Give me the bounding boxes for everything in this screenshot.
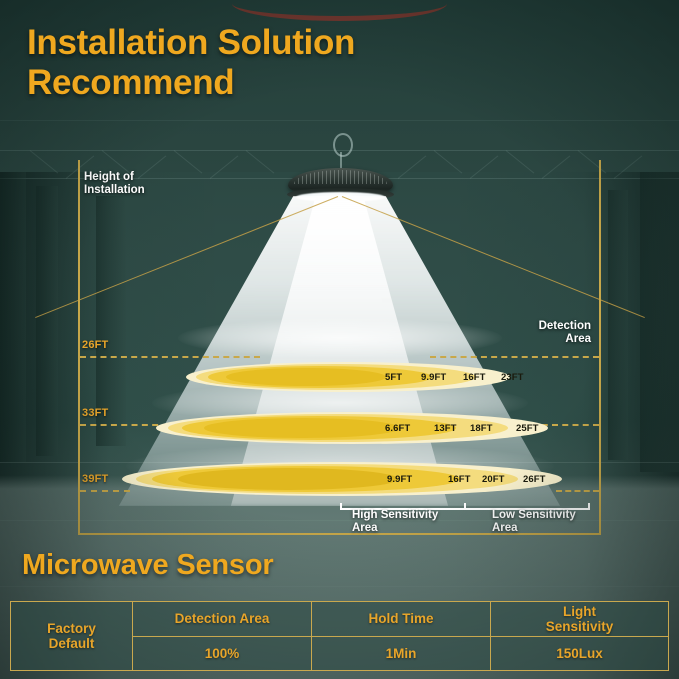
column-value-light-sensitivity: 150Lux <box>491 637 668 671</box>
column-header-detection-area: Detection Area <box>133 602 311 637</box>
spec-table: Factory Default Detection Area 100% Hold… <box>10 601 669 671</box>
column-header-hold-time: Hold Time <box>312 602 490 637</box>
column-value-detection-area: 100% <box>133 637 311 671</box>
column-header-light-sensitivity: Light Sensitivity <box>491 602 668 637</box>
title-line-1: Installation Solution <box>27 23 355 62</box>
section-title: Microwave Sensor <box>22 549 273 582</box>
light-sensitivity-line1: Light <box>563 604 596 619</box>
table-column-detection-area: Detection Area 100% <box>133 602 312 670</box>
table-column-hold-time: Hold Time 1Min <box>312 602 491 670</box>
factory-default-line2: Default <box>49 636 95 651</box>
table-column-label: Factory Default <box>11 602 133 670</box>
title-line-2: Recommend <box>27 63 234 102</box>
column-value-hold-time: 1Min <box>312 637 490 671</box>
page-title: Installation Solution Recommend <box>27 23 355 103</box>
light-sensitivity-line2: Sensitivity <box>546 619 614 634</box>
factory-default-cell: Factory Default <box>11 602 132 670</box>
poster-canvas: 5FT 9.9FT 16FT 23FT 6.6FT 13FT 18FT 25FT… <box>0 0 679 679</box>
table-column-light-sensitivity: Light Sensitivity 150Lux <box>491 602 668 670</box>
factory-default-line1: Factory <box>47 621 96 636</box>
